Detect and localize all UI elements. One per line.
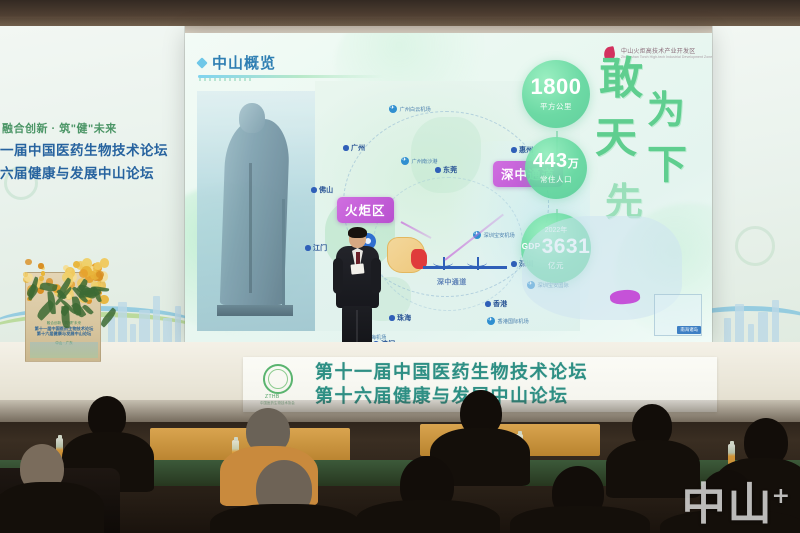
shenzhen-zhongshan-bridge-icon [423, 257, 507, 275]
airport-icon [487, 317, 495, 325]
map-city-5: 江门 [305, 243, 327, 253]
diamond-bullet-icon [196, 57, 207, 68]
stat-unit-population: 万 [568, 158, 580, 170]
projection-screen-slide: 中山概览 中山火炬高技术产业开发区 Zhongshan Torch High-t… [185, 33, 712, 342]
banner-logo-ring-inner [268, 369, 288, 389]
stat-value-area: 1800 [531, 76, 582, 98]
speaker-left-arm [333, 258, 343, 294]
flower-petal [39, 276, 43, 280]
city-label: 珠海 [397, 313, 411, 323]
bridge-label: 深中通道 [437, 277, 467, 287]
sun-yat-sen-statue-photo [197, 91, 317, 331]
airport-icon [401, 157, 409, 165]
speaker-microphone-card [351, 263, 365, 274]
conference-stage-photo: 融合创新 · 筑"健"未来 一届中国医药生物技术论坛 六届健康与发展中山论坛 [0, 0, 800, 533]
calligraphy-char-2: 为 [647, 91, 685, 129]
podium-city-graphic [30, 342, 98, 358]
watermark-zhongshan-plus: 中山+ [682, 483, 792, 527]
wall-forum-line-2: 六届健康与发展中山论坛 [0, 164, 182, 184]
flower-petal [96, 271, 103, 278]
statue-coat-detail [249, 163, 252, 293]
speaker-hair [348, 227, 367, 238]
airport-icon [389, 105, 397, 113]
city-dot-icon [343, 145, 349, 151]
statue-body [220, 119, 290, 305]
audience-shoulders-7 [210, 504, 360, 533]
map-city-0: 广州 [343, 143, 365, 153]
stat-bubble-area: 1800 平方公里 [522, 60, 590, 128]
flower-petal [67, 268, 71, 272]
city-label: 东莞 [443, 165, 457, 175]
statue-head [239, 103, 265, 133]
flower-petal [23, 272, 27, 276]
city-dot-icon [435, 167, 441, 173]
flower-leaf [62, 306, 70, 328]
watermark-plus: + [772, 483, 792, 509]
china-inset-map: 南海诸岛 [514, 208, 704, 336]
wall-forum-line-1: 一届中国医药生物技术论坛 [0, 141, 182, 161]
stat-caption-area: 平方公里 [540, 101, 572, 112]
statue-cane [282, 199, 285, 307]
map-city-8: 珠海 [389, 313, 411, 323]
audience-area [0, 400, 800, 533]
wall-tagline: 融合创新 · 筑"健"未来 [0, 122, 182, 138]
speaker-right-arm [371, 258, 381, 294]
flower-arrangement [14, 256, 110, 322]
wall-signage-text: 融合创新 · 筑"健"未来 一届中国医药生物技术论坛 六届健康与发展中山论坛 [0, 122, 182, 183]
city-label: 香港 [493, 299, 507, 309]
audience-shoulders-9 [510, 506, 650, 533]
banner-line-1: 第十一届中国医药生物技术论坛 [315, 361, 588, 384]
city-dot-icon [485, 301, 491, 307]
callout-torch-zone[interactable]: 火炬区 [337, 197, 394, 223]
title-dotted-accent [199, 78, 253, 81]
audience-shoulders-6 [0, 482, 104, 533]
city-dot-icon [311, 187, 317, 193]
slide-title-group: 中山概览 [198, 52, 276, 73]
calligraphy-char-1: 敢 [599, 57, 643, 101]
city-dot-icon [389, 315, 395, 321]
city-label: 佛山 [319, 185, 333, 195]
flower-petal [38, 263, 43, 268]
stat-bubble-population: 443万 常住人口 [525, 137, 587, 199]
map-city-7: 香港 [485, 299, 507, 309]
airport-label: 广州南沙港 [412, 158, 438, 165]
audience-shoulders-8 [356, 500, 500, 533]
map-airport-1: 广州南沙港 [401, 157, 437, 165]
city-label: 广州 [351, 143, 365, 153]
speaker-presenter [333, 228, 381, 354]
map-city-1: 佛山 [311, 185, 333, 195]
wall-ring-decor-right [735, 226, 775, 266]
calligraphy-char-3: 天 [595, 117, 637, 159]
stat-caption-population: 常住人口 [540, 174, 572, 185]
inset-label: 南海诸岛 [677, 326, 701, 334]
podium-line-2: 第十六届健康与发展中山论坛 [33, 331, 95, 336]
watermark-text: 中山 [682, 479, 774, 530]
map-airport-0: 广州白云机场 [389, 105, 431, 113]
city-label: 江门 [313, 243, 327, 253]
wall-panel-right [712, 26, 800, 372]
flower-petal [41, 271, 45, 275]
statue-pedestal [217, 305, 293, 316]
stat-value-population: 443 [533, 150, 568, 172]
calligraphy-char-4: 下 [647, 145, 687, 185]
city-dot-icon [305, 245, 311, 251]
airport-label: 广州白云机场 [400, 106, 431, 113]
map-city-2: 东莞 [435, 165, 457, 175]
flower-petal [25, 259, 32, 266]
slide-title: 中山概览 [212, 52, 276, 73]
airport-label: 深圳宝安机场 [484, 232, 515, 239]
city-dot-icon [511, 147, 517, 153]
